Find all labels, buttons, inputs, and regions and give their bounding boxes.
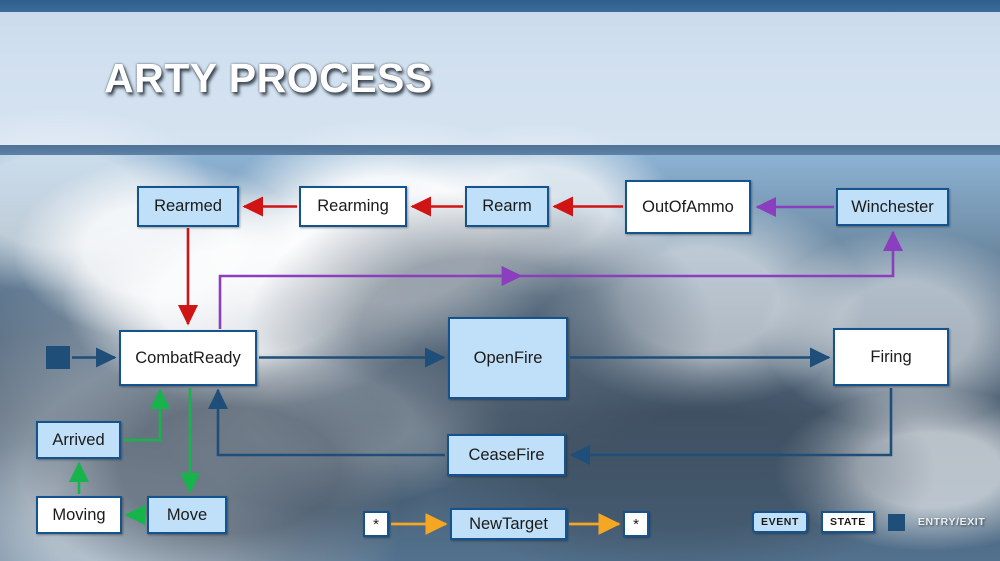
node-label: OpenFire <box>474 349 543 368</box>
node-openfire[interactable]: OpenFire <box>448 317 568 399</box>
node-combatready[interactable]: CombatReady <box>119 330 257 386</box>
banner-bottom-edge <box>0 145 1000 155</box>
node-rearm[interactable]: Rearm <box>465 186 549 227</box>
node-label: Rearming <box>317 197 389 216</box>
node-label: Winchester <box>851 198 934 217</box>
node-label: CombatReady <box>135 349 240 368</box>
node-label: * <box>633 516 639 533</box>
node-label: Arrived <box>52 431 104 450</box>
legend-entry-exit-label: ENTRY/EXIT <box>918 516 985 528</box>
legend-event-swatch: EVENT <box>752 511 808 533</box>
slide-canvas: ARTY PROCESS <box>0 0 1000 561</box>
legend-entry-exit-swatch <box>888 514 905 531</box>
node-newtarget[interactable]: NewTarget <box>450 508 567 540</box>
legend-state-swatch: STATE <box>821 511 875 533</box>
entry-exit-marker[interactable] <box>46 346 70 369</box>
node-star-right[interactable]: * <box>623 511 649 537</box>
node-label: Firing <box>870 348 911 367</box>
node-label: NewTarget <box>469 515 548 534</box>
node-label: Rearmed <box>154 197 222 216</box>
node-move[interactable]: Move <box>147 496 227 534</box>
page-title: ARTY PROCESS <box>104 55 433 102</box>
node-rearmed[interactable]: Rearmed <box>137 186 239 227</box>
node-label: Rearm <box>482 197 532 216</box>
node-rearming[interactable]: Rearming <box>299 186 407 227</box>
node-label: Move <box>167 506 207 525</box>
legend: EVENT STATE ENTRY/EXIT <box>752 511 985 533</box>
banner-top-edge <box>0 0 1000 12</box>
node-ceasefire[interactable]: CeaseFire <box>447 434 566 476</box>
node-label: OutOfAmmo <box>642 198 734 217</box>
node-label: * <box>373 516 379 533</box>
node-winchester[interactable]: Winchester <box>836 188 949 226</box>
node-moving[interactable]: Moving <box>36 496 122 534</box>
node-star-left[interactable]: * <box>363 511 389 537</box>
node-firing[interactable]: Firing <box>833 328 949 386</box>
node-arrived[interactable]: Arrived <box>36 421 121 459</box>
node-label: Moving <box>52 506 105 525</box>
node-outofammo[interactable]: OutOfAmmo <box>625 180 751 234</box>
node-label: CeaseFire <box>468 446 544 465</box>
